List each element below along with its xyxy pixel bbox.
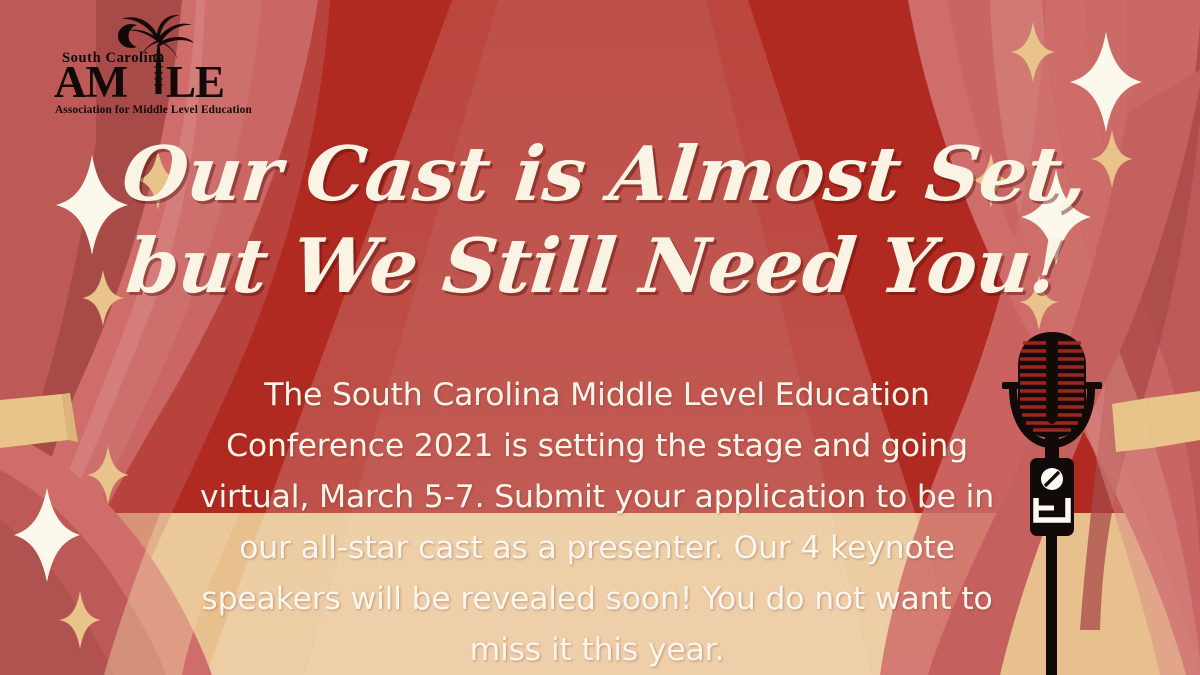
mic-grille-divider: [1046, 338, 1058, 424]
mic-stand-pole: [1046, 530, 1057, 675]
curtain-right-tieback: [1148, 391, 1200, 448]
vintage-microphone-icon: [992, 330, 1112, 675]
headline-line-2: but We Still Need You!: [0, 220, 1200, 312]
headline-line-1: Our Cast is Almost Set,: [0, 128, 1200, 220]
promotional-poster: South Carolina AM LE Association for Mid…: [0, 0, 1200, 675]
mic-yoke-peg-left: [1002, 382, 1019, 389]
body-paragraph: The South Carolina Middle Level Educatio…: [178, 370, 1016, 675]
page-title: Our Cast is Almost Set, but We Still Nee…: [0, 128, 1200, 312]
mic-yoke-peg-right: [1085, 382, 1102, 389]
curtain-right-tieback-tail: [1112, 398, 1152, 452]
curtain-left-tieback: [0, 394, 68, 448]
